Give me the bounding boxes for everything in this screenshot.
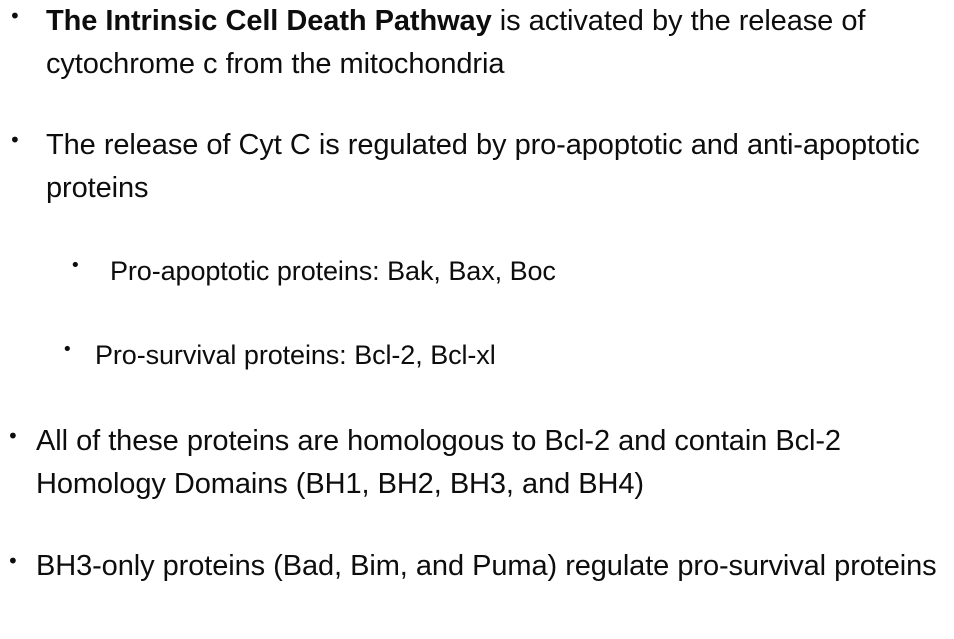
bullet-item-2: • The release of Cyt C is regulated by p… (4, 124, 950, 210)
sub-bullet-text-1: Pro-apoptotic proteins: Bak, Bax, Boc (110, 251, 930, 291)
bullet-item-3: • All of these proteins are homologous t… (2, 420, 954, 506)
bullet-dot-icon: • (2, 420, 36, 446)
sub-bullet-item-2: • Pro-survival proteins: Bcl-2, Bcl-xl (62, 335, 922, 375)
slide-canvas: • The Intrinsic Cell Death Pathway is ac… (0, 0, 954, 639)
bullet-text-1: The Intrinsic Cell Death Pathway is acti… (46, 0, 950, 86)
bullet-dot-icon: • (62, 335, 95, 359)
sub-bullet-text-2: Pro-survival proteins: Bcl-2, Bcl-xl (95, 335, 922, 375)
bullet-text-1-bold-lead: The Intrinsic Cell Death Pathway (46, 5, 492, 37)
bullet-text-3: All of these proteins are homologous to … (36, 420, 954, 506)
bullet-dot-icon: • (70, 251, 110, 275)
sub-bullet-item-1: • Pro-apoptotic proteins: Bak, Bax, Boc (70, 251, 930, 291)
bullet-item-4: • BH3-only proteins (Bad, Bim, and Puma)… (2, 545, 954, 588)
bullet-text-2: The release of Cyt C is regulated by pro… (46, 124, 950, 210)
bullet-dot-icon: • (4, 124, 46, 150)
bullet-item-1: • The Intrinsic Cell Death Pathway is ac… (4, 0, 950, 86)
bullet-text-4: BH3-only proteins (Bad, Bim, and Puma) r… (36, 545, 954, 588)
bullet-dot-icon: • (4, 0, 46, 26)
bullet-dot-icon: • (2, 545, 36, 571)
